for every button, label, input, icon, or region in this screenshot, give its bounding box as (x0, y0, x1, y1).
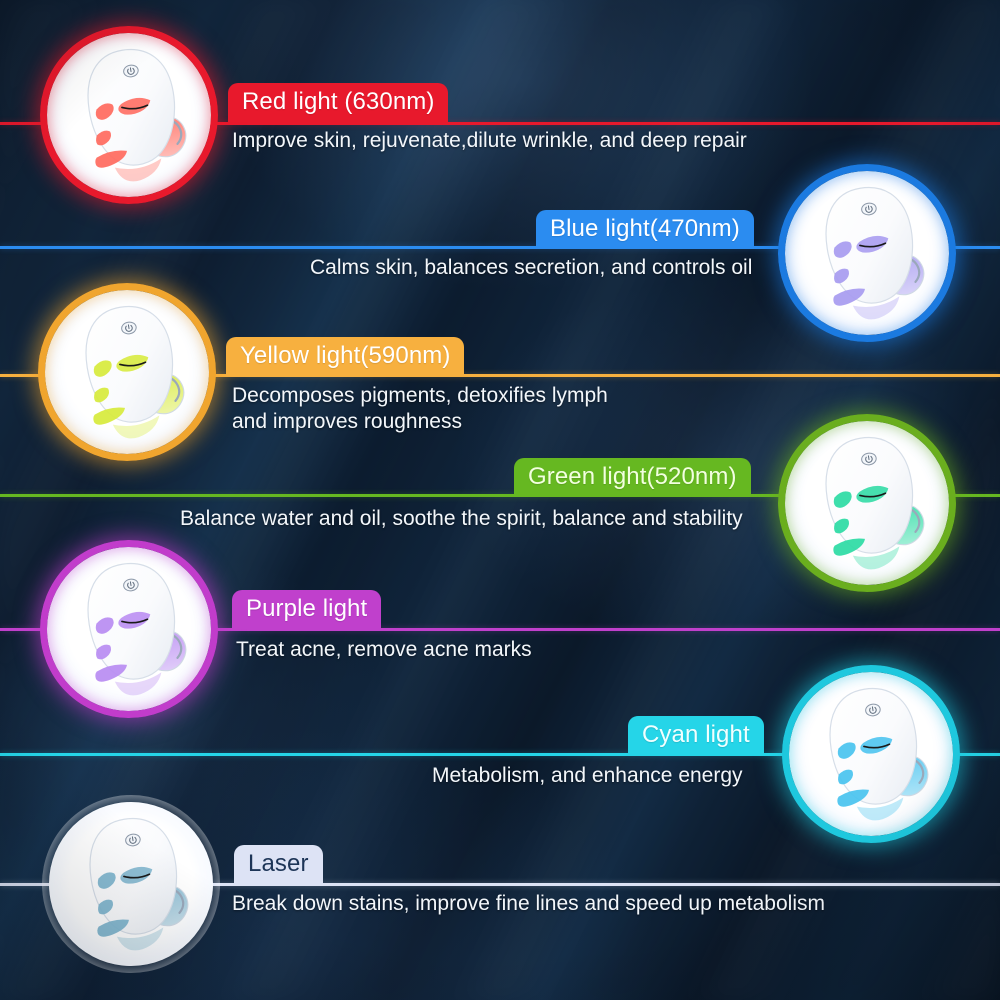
mask-ring-blue (778, 164, 956, 342)
description-purple: Treat acne, remove acne marks (236, 637, 532, 663)
badge-cyan[interactable]: Cyan light (628, 716, 764, 755)
mask-ring-purple (40, 540, 218, 718)
description-laser: Break down stains, improve fine lines an… (232, 891, 825, 917)
mask-circle-green (778, 414, 956, 592)
mask-circle-laser (42, 795, 220, 973)
badge-blue[interactable]: Blue light(470nm) (536, 210, 754, 249)
mask-ring-yellow (38, 283, 216, 461)
mask-ring-red (40, 26, 218, 204)
badge-green[interactable]: Green light(520nm) (514, 458, 751, 497)
badge-laser[interactable]: Laser (234, 845, 323, 884)
mask-circle-cyan (782, 665, 960, 843)
mask-circle-blue (778, 164, 956, 342)
mask-circle-purple (40, 540, 218, 718)
mask-ring-green (778, 414, 956, 592)
badge-purple[interactable]: Purple light (232, 590, 381, 629)
description-yellow: Decomposes pigments, detoxifies lymph an… (232, 383, 608, 436)
description-red: Improve skin, rejuvenate,dilute wrinkle,… (232, 128, 747, 154)
description-blue: Calms skin, balances secretion, and cont… (310, 255, 752, 281)
led-mask-infographic: Red light (630nm)Improve skin, rejuvenat… (0, 0, 1000, 1000)
badge-yellow[interactable]: Yellow light(590nm) (226, 337, 464, 376)
mask-circle-red (40, 26, 218, 204)
mask-circle-yellow (38, 283, 216, 461)
mask-ring-cyan (782, 665, 960, 843)
badge-red[interactable]: Red light (630nm) (228, 83, 448, 122)
description-green: Balance water and oil, soothe the spirit… (180, 506, 743, 532)
mask-ring-laser (42, 795, 220, 973)
description-cyan: Metabolism, and enhance energy (432, 763, 743, 789)
